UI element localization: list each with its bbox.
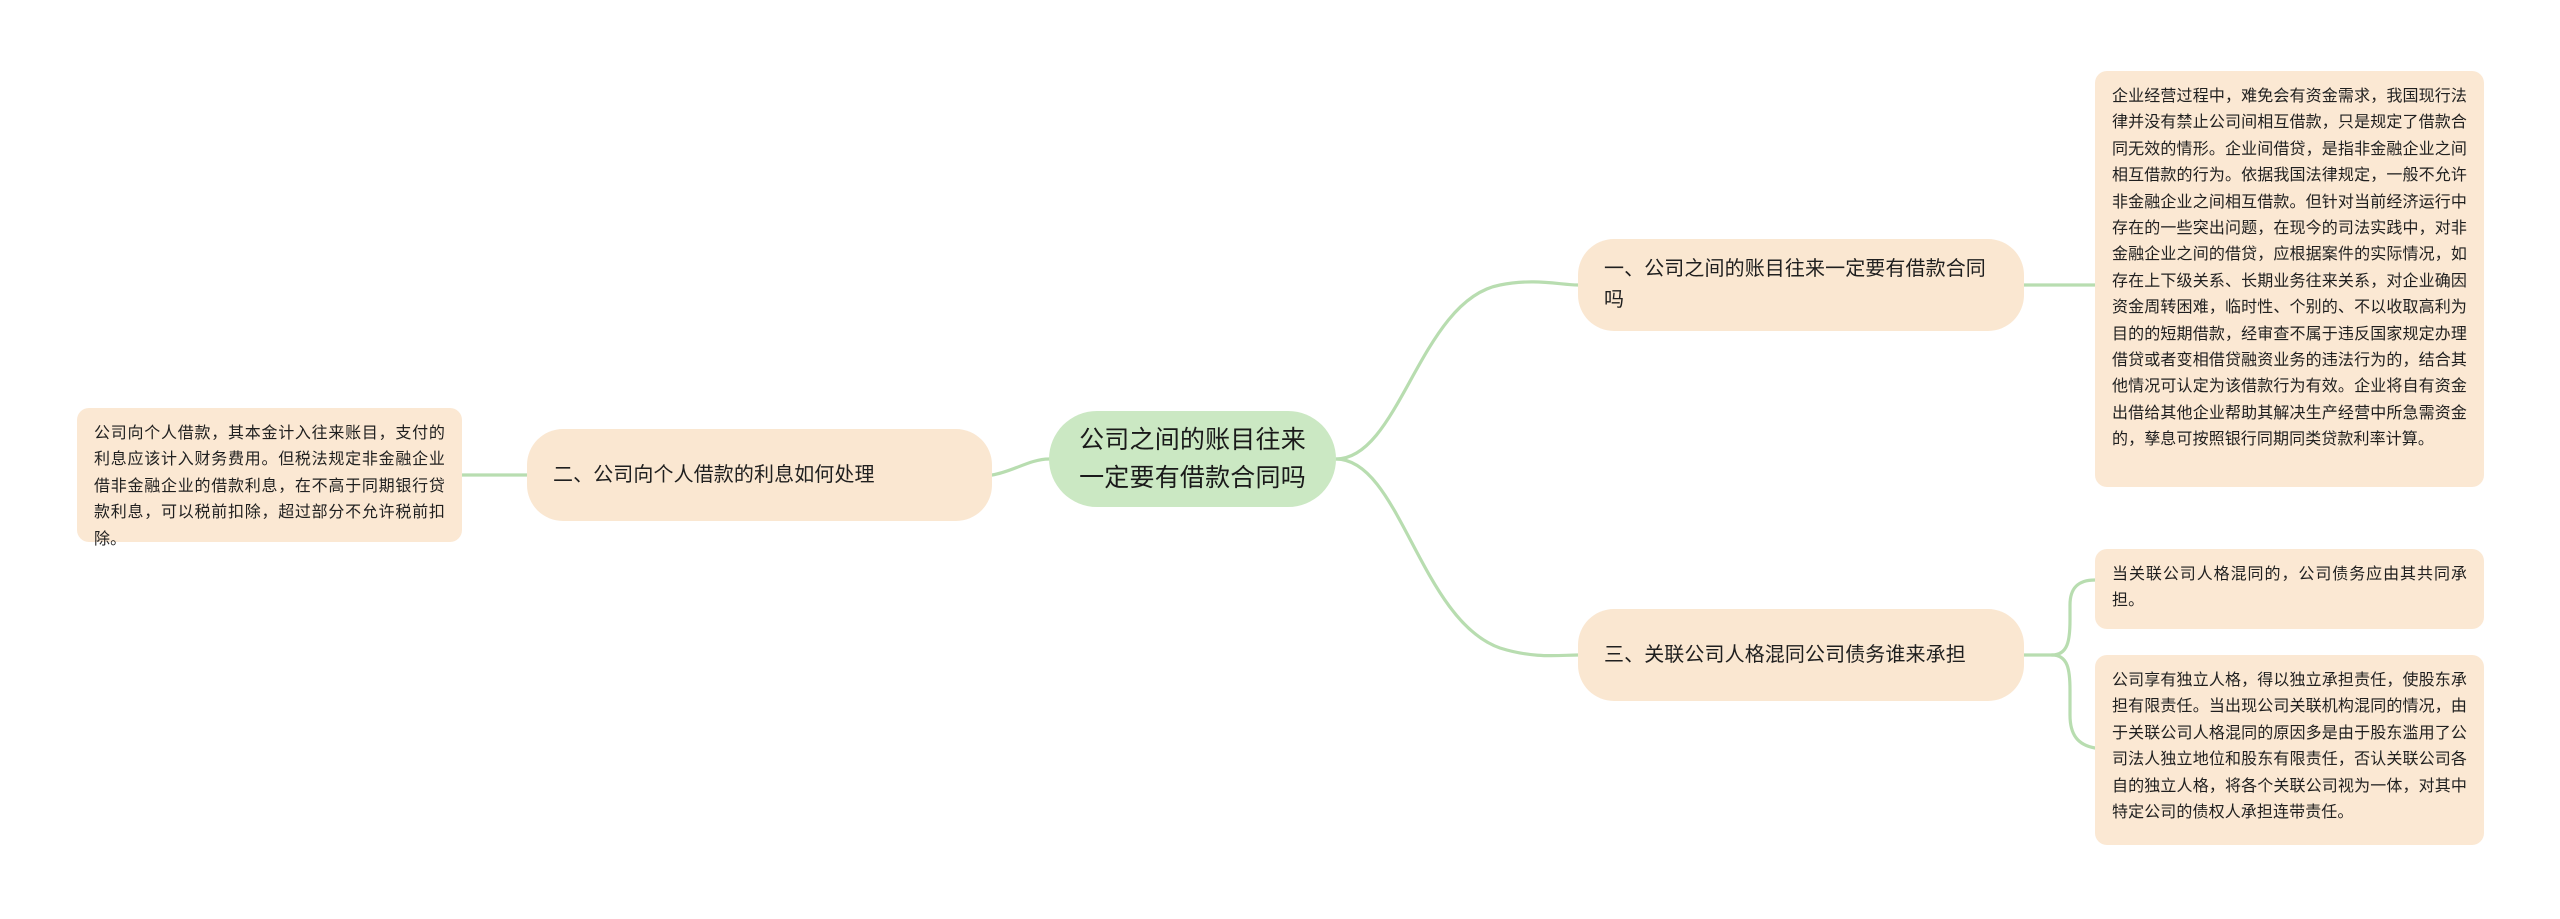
branch-node-3[interactable]: 三、关联公司人格混同公司债务谁来承担 (1578, 609, 2024, 701)
branch-node-1-label: 一、公司之间的账目往来一定要有借款合同吗 (1604, 254, 1998, 316)
connector-branch-3-to-leaf-r3 (2052, 655, 2095, 748)
detail-panel-branch-3-summary-text: 当关联公司人格混同的，公司债务应由其共同承担。 (2112, 562, 2467, 615)
connector-branch-3-to-leaf-r2 (2052, 580, 2095, 655)
root-node[interactable]: 公司之间的账目往来一定要有借款合同吗 (1049, 411, 1336, 507)
mind-map-canvas: 公司之间的账目往来一定要有借款合同吗 一、公司之间的账目往来一定要有借款合同吗 … (0, 0, 2560, 919)
detail-panel-branch-3-body-text: 公司享有独立人格，得以独立承担责任，使股东承担有限责任。当出现公司关联机构混同的… (2112, 668, 2467, 826)
branch-node-2[interactable]: 二、公司向个人借款的利息如何处理 (527, 429, 992, 521)
connector-root-to-branch-3 (1336, 459, 1578, 656)
connector-root-to-branch-2 (992, 459, 1049, 475)
root-node-label: 公司之间的账目往来一定要有借款合同吗 (1071, 421, 1314, 497)
detail-panel-branch-3-summary[interactable]: 当关联公司人格混同的，公司债务应由其共同承担。 (2095, 549, 2484, 629)
detail-panel-branch-2[interactable]: 公司向个人借款，其本金计入往来账目，支付的利息应该计入财务费用。但税法规定非金融… (77, 408, 462, 542)
branch-node-2-label: 二、公司向个人借款的利息如何处理 (553, 460, 875, 491)
detail-panel-branch-1[interactable]: 企业经营过程中，难免会有资金需求，我国现行法律并没有禁止公司间相互借款，只是规定… (2095, 71, 2484, 487)
detail-panel-branch-1-text: 企业经营过程中，难免会有资金需求，我国现行法律并没有禁止公司间相互借款，只是规定… (2112, 84, 2467, 454)
connector-root-to-branch-1 (1336, 282, 1578, 459)
branch-node-1[interactable]: 一、公司之间的账目往来一定要有借款合同吗 (1578, 239, 2024, 331)
detail-panel-branch-3-body[interactable]: 公司享有独立人格，得以独立承担责任，使股东承担有限责任。当出现公司关联机构混同的… (2095, 655, 2484, 845)
branch-node-3-label: 三、关联公司人格混同公司债务谁来承担 (1604, 640, 1966, 671)
detail-panel-branch-2-text: 公司向个人借款，其本金计入往来账目，支付的利息应该计入财务费用。但税法规定非金融… (94, 421, 445, 553)
